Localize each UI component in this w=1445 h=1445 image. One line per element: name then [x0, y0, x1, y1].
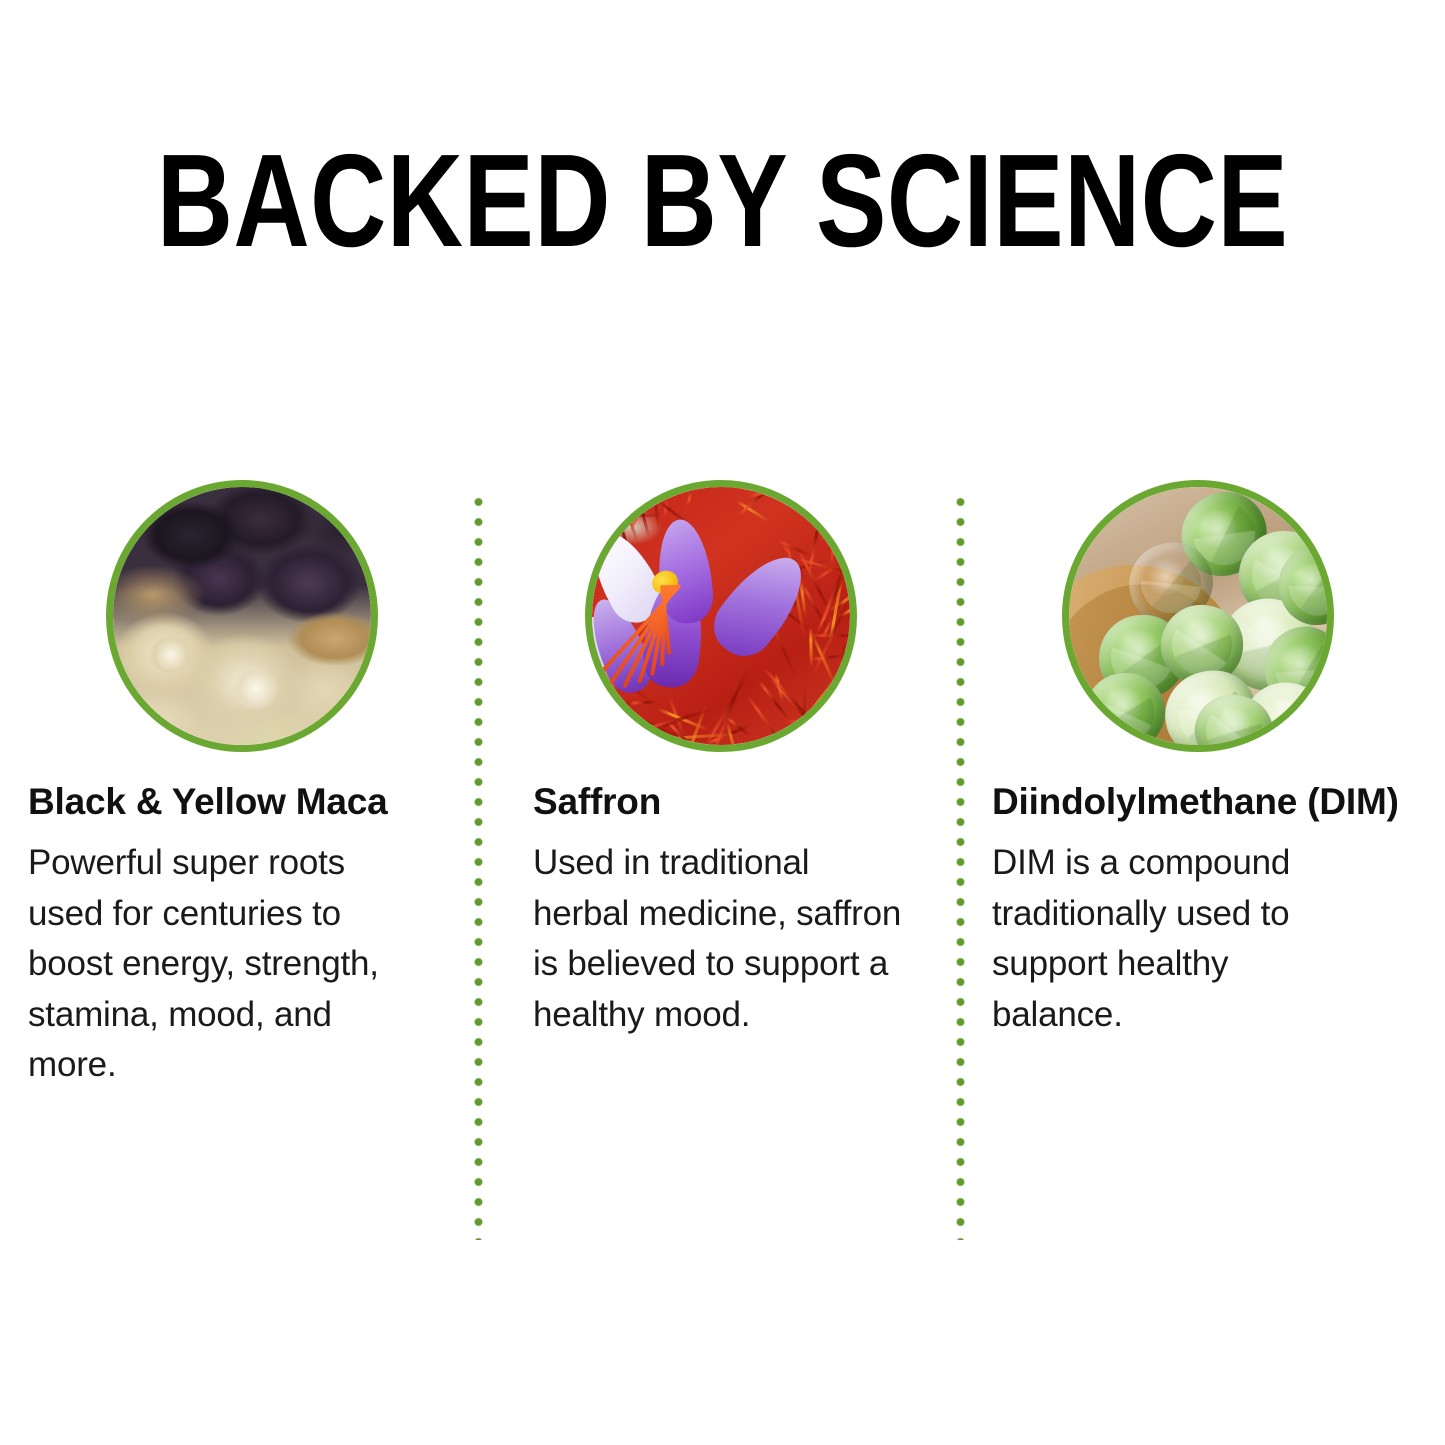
ingredient-image-saffron	[585, 480, 857, 752]
saffron-thread	[812, 653, 845, 660]
page-title: BACKED BY SCIENCE	[145, 135, 1301, 267]
ingredient-description-saffron: Used in traditional herbal medicine, saf…	[533, 838, 903, 1040]
saffron-thread	[663, 487, 672, 518]
ingredient-image-maca	[106, 480, 378, 752]
ingredient-card-maca: Black & Yellow Maca Powerful super roots…	[28, 480, 453, 1090]
dotted-divider-left	[474, 492, 483, 1240]
maca-photo	[113, 487, 371, 745]
saffron-thread	[784, 716, 850, 724]
saffron-thread	[686, 487, 699, 507]
ingredient-title-maca: Black & Yellow Maca	[28, 780, 453, 824]
brussels-sprouts-artwork	[1069, 487, 1327, 745]
ingredient-card-saffron: Saffron Used in traditional herbal medic…	[533, 480, 948, 1040]
saffron-thread	[844, 487, 850, 511]
ingredient-card-dim: Diindolylmethane (DIM) DIM is a compound…	[992, 480, 1412, 1040]
saffron-photo	[592, 487, 850, 745]
dotted-divider-right	[956, 492, 965, 1240]
saffron-thread	[843, 516, 850, 542]
maca-roots-artwork	[113, 487, 371, 745]
brussels-sprouts-photo	[1069, 487, 1327, 745]
ingredient-title-dim: Diindolylmethane (DIM)	[992, 780, 1412, 824]
infographic-page: BACKED BY SCIENCE Black & Yellow Maca Po…	[0, 0, 1445, 1445]
ingredient-description-dim: DIM is a compound traditionally used to …	[992, 838, 1367, 1040]
crocus-flower	[600, 515, 785, 700]
saffron-thread	[804, 679, 835, 719]
ingredient-description-maca: Powerful super roots used for centuries …	[28, 838, 428, 1090]
ingredient-title-saffron: Saffron	[533, 780, 948, 824]
maca-root-highlight	[149, 637, 193, 673]
saffron-threads-artwork	[592, 487, 850, 745]
ingredient-image-dim	[1062, 480, 1334, 752]
